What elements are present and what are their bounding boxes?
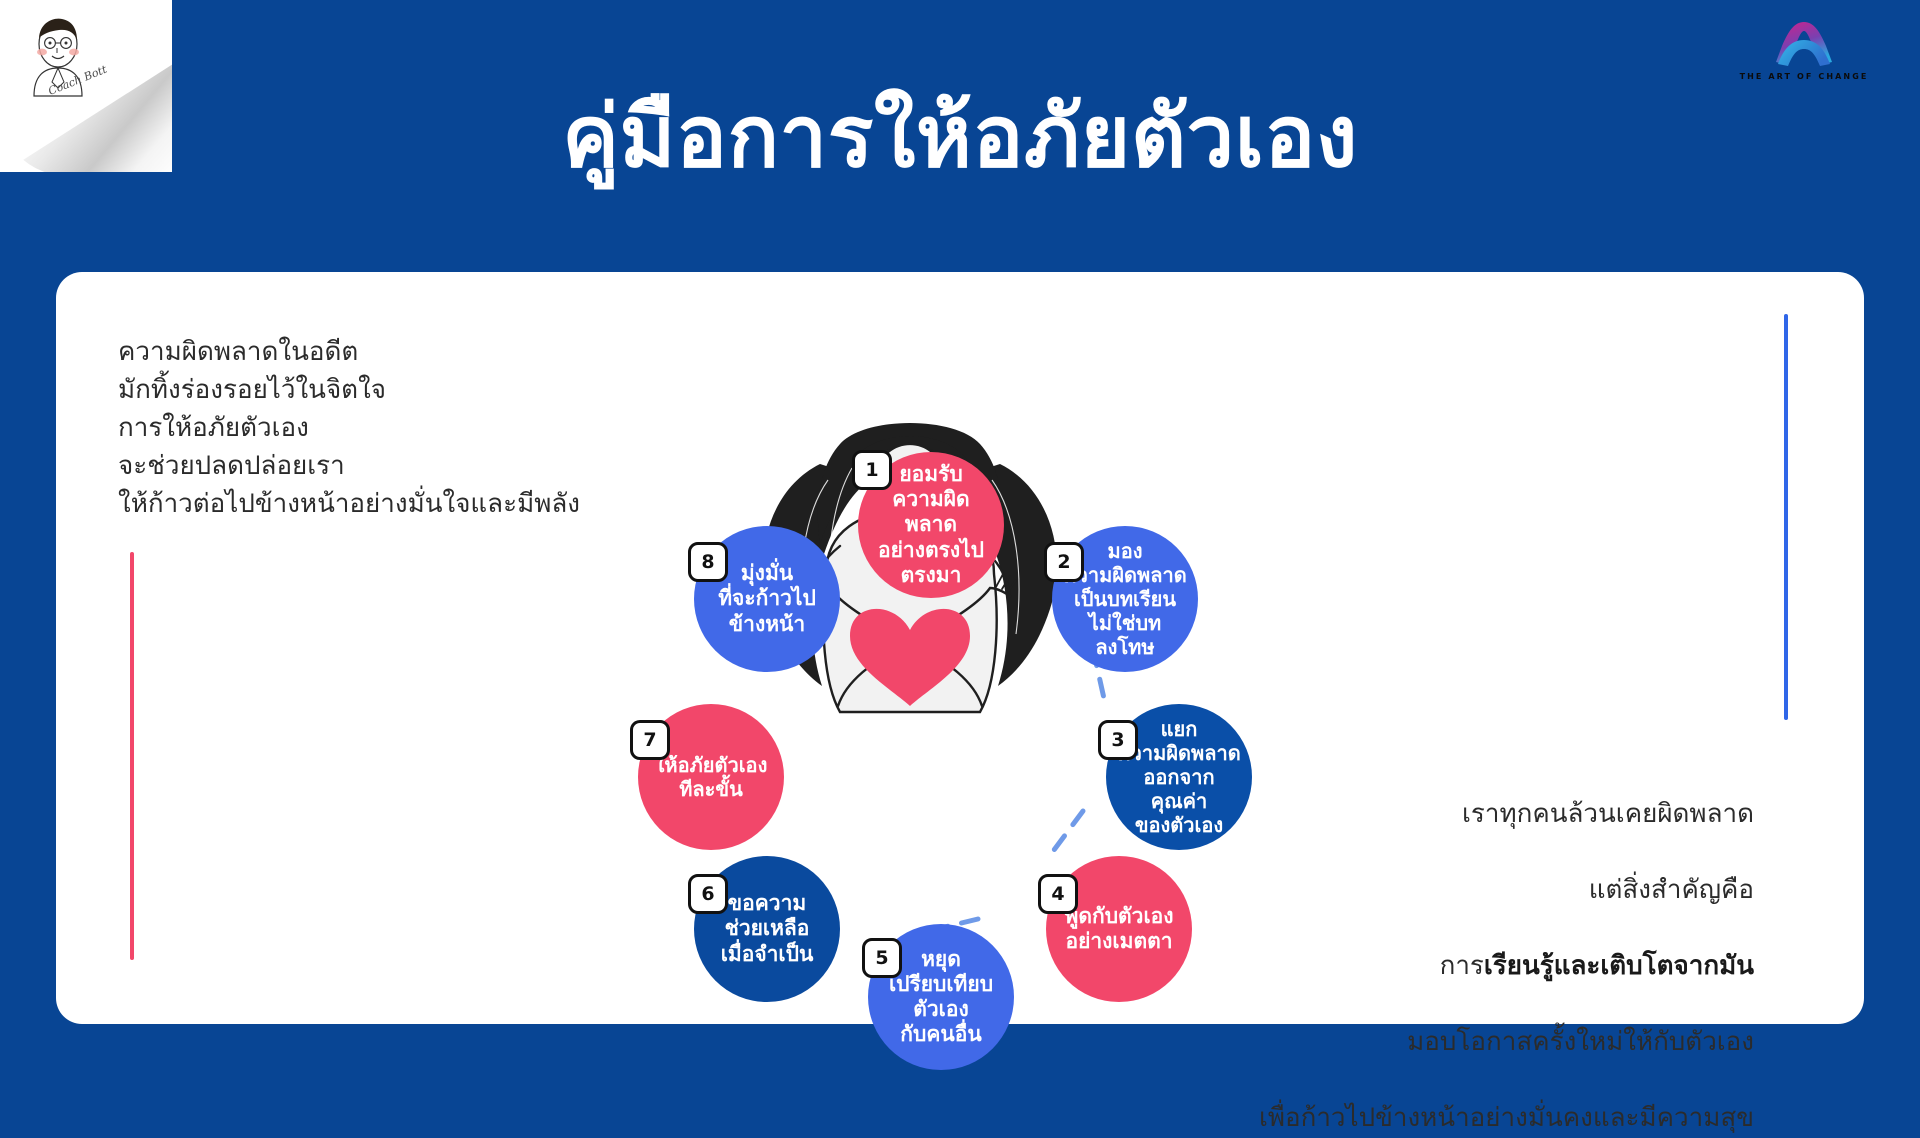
step-node-8[interactable]: 8 มุ่งมั่น ที่จะก้าวไป ข้างหน้า [694,526,840,672]
step-badge-8: 8 [688,542,728,582]
step-badge-7: 7 [630,720,670,760]
brand-logo: THE ART OF CHANGE [1734,18,1874,94]
step-node-2[interactable]: 2 มอง ความผิดพลาด เป็นบทเรียน ไม่ใช่บทลง… [1052,526,1198,672]
intro-paragraph: ความผิดพลาดในอดีต มักทิ้งร่องรอยไว้ในจิต… [118,334,580,524]
step-badge-3: 3 [1098,720,1138,760]
step-badge-2: 2 [1044,542,1084,582]
step-badge-5: 5 [862,938,902,978]
step-badge-4: 4 [1038,874,1078,914]
step-node-3[interactable]: 3 แยก ความผิดพลาด ออกจากคุณค่า ของตัวเอง [1106,704,1252,850]
step-badge-6: 6 [688,874,728,914]
step-badge-1: 1 [852,450,892,490]
slide-root: Coach Bott THE ART OF CHANGE คู่ [0,0,1920,1080]
step-node-5[interactable]: 5 หยุด เปรียบเทียบ ตัวเอง กับคนอื่น [868,924,1014,1070]
accent-bar-right [1784,314,1788,720]
closing-line-3-prefix: การ [1440,951,1484,981]
accent-bar-left [130,552,134,960]
page-title: คู่มือการให้อภัยตัวเอง [0,95,1920,180]
logo-wordmark: THE ART OF CHANGE [1734,72,1874,81]
step-label-7: ให้อภัยตัวเอง ทีละขั้น [645,753,778,801]
closing-line-2: แต่สิ่งสำคัญคือ [1589,875,1754,905]
closing-line-1: เราทุกคนล้วนเคยผิดพลาด [1462,799,1754,829]
step-node-4[interactable]: 4 พูดกับตัวเอง อย่างเมตตา [1046,856,1192,1002]
closing-line-4: มอบโอกาสครั้งใหม่ให้กับตัวเอง [1407,1027,1754,1057]
step-node-7[interactable]: 7 ให้อภัยตัวเอง ทีละขั้น [638,704,784,850]
content-card: ความผิดพลาดในอดีต มักทิ้งร่องรอยไว้ในจิต… [56,272,1864,1024]
steps-diagram: 1 ยอมรับ ความผิดพลาด อย่างตรงไป ตรงมา 2 … [596,244,1296,944]
closing-paragraph: เราทุกคนล้วนเคยผิดพลาด แต่สิ่งสำคัญคือ ก… [1259,758,1754,1138]
step-node-6[interactable]: 6 ขอความ ช่วยเหลือ เมื่อจำเป็น [694,856,840,1002]
art-of-change-a-icon [1734,18,1874,70]
closing-line-5: เพื่อก้าวไปข้างหน้าอย่างมั่นคงและมีความส… [1259,1103,1754,1133]
closing-line-3-bold: เรียนรู้และเติบโตจากมัน [1484,951,1754,981]
step-node-1[interactable]: 1 ยอมรับ ความผิดพลาด อย่างตรงไป ตรงมา [858,452,1004,598]
